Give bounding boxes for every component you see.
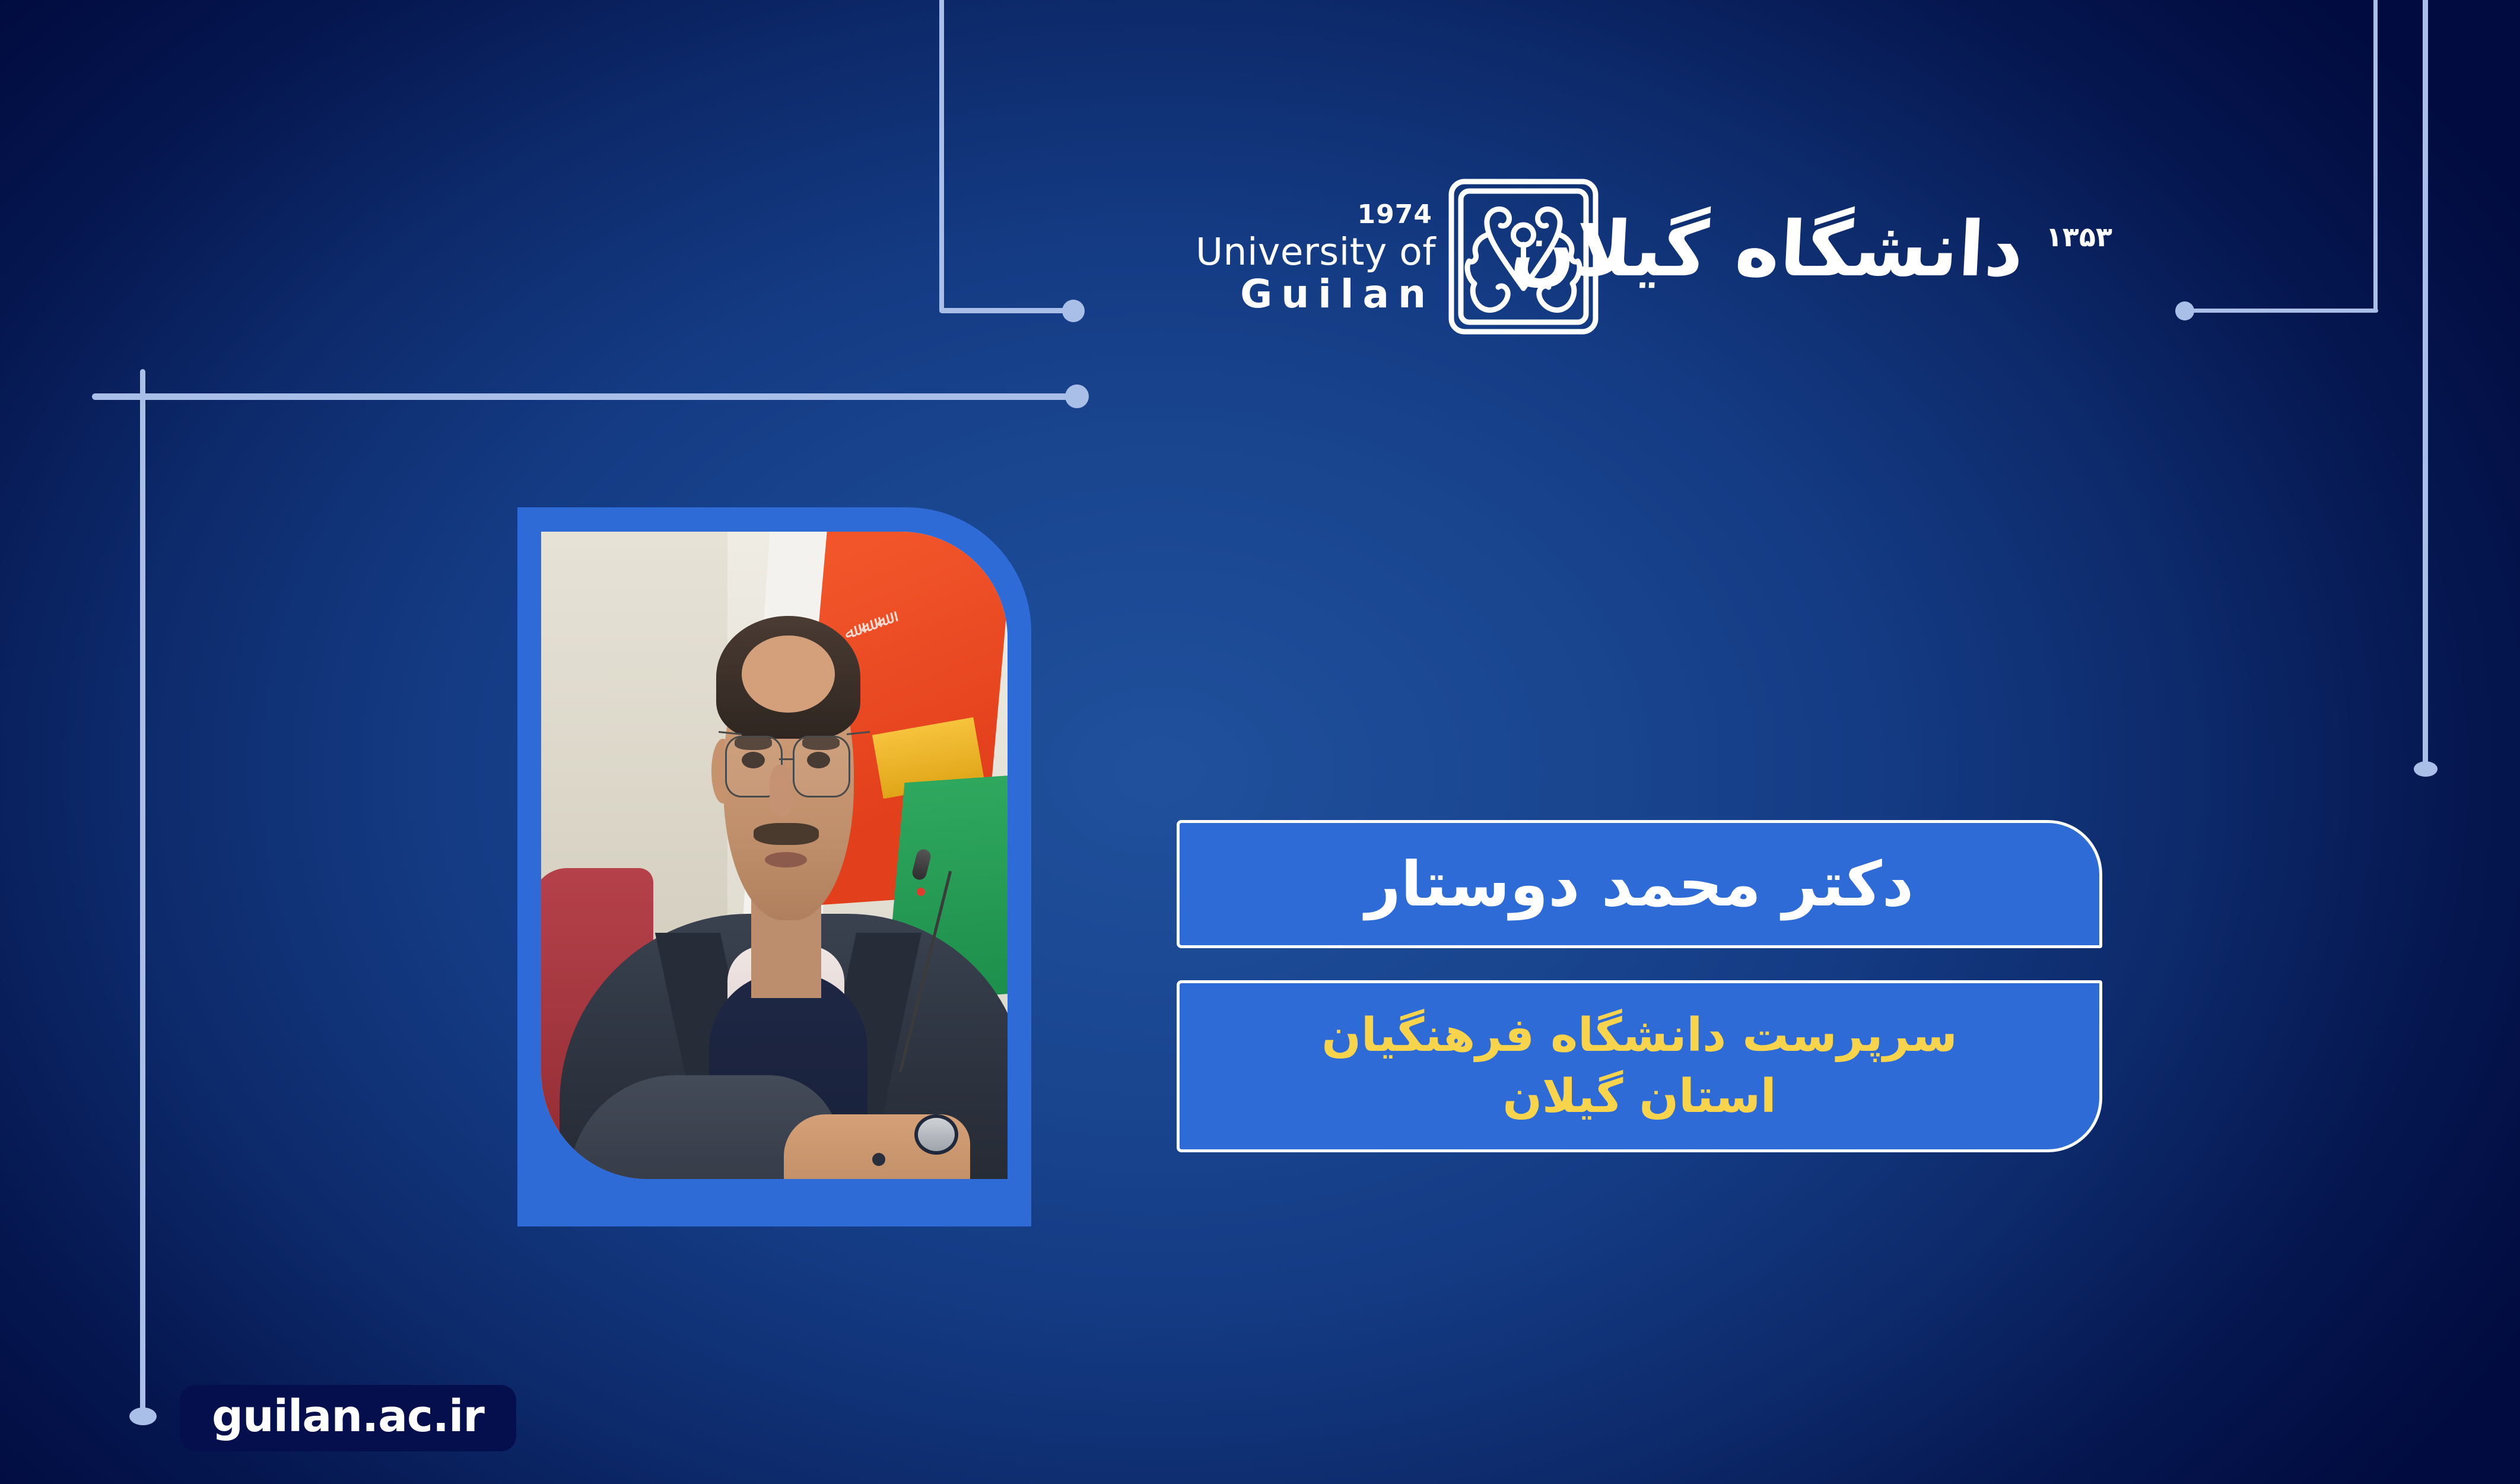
photo-flag-script: ﷲ ﷲ ﷲ (843, 609, 889, 644)
decorative-line-upper-left-vertical (939, 0, 944, 312)
portrait-photo: ﷲ ﷲ ﷲ (541, 532, 1008, 1179)
logo-university-of-label: University of (1145, 233, 1436, 272)
decorative-dot-upper-left (1062, 300, 1085, 322)
photo-mouth (765, 852, 807, 867)
decorative-line-mid-left-horizontal (92, 393, 1082, 400)
person-title-badge: سرپرست دانشگاه فرهنگیان استان گیلان (1177, 980, 2102, 1152)
university-logo-english: 1974 University of Guilan (1145, 202, 1436, 317)
person-title-line-2: استان گیلان (1321, 1066, 1957, 1127)
decorative-line-top-right-horizontal (2188, 309, 2378, 313)
photo-forehead (742, 635, 835, 713)
logo-guilan-label: Guilan (1145, 272, 1436, 317)
decorative-dot-left-bottom (129, 1407, 157, 1425)
decorative-line-top-right-vertical (2373, 0, 2378, 312)
announcement-card: 1974 University of Guilan ۱۳۵۳ دانشگاه گ… (0, 0, 2520, 1484)
decorative-line-left-vertical (140, 369, 145, 1419)
photo-eyeglass-bridge (779, 758, 793, 760)
decorative-dot-top-right (2175, 301, 2194, 320)
logo-university-name-persian: دانشگاه گیلان (1605, 195, 2026, 305)
website-url[interactable]: guilan.ac.ir (212, 1391, 484, 1442)
person-title-line-1: سرپرست دانشگاه فرهنگیان (1321, 1005, 1957, 1066)
decorative-line-upper-left-horizontal (939, 308, 1082, 313)
person-name: دکتر محمد دوستار (1365, 850, 1914, 918)
decorative-dot-mid-left (1065, 384, 1089, 408)
decorative-line-right-vertical (2423, 0, 2428, 768)
university-logo-persian: ۱۳۵۳ دانشگاه گیلان (1602, 184, 2112, 362)
university-logo: 1974 University of Guilan ۱۳۵۳ دانشگاه گ… (1145, 178, 2112, 380)
logo-year-persian: ۱۳۵۳ (2046, 221, 2112, 253)
decorative-dot-right (2414, 761, 2438, 777)
person-title: سرپرست دانشگاه فرهنگیان استان گیلان (1298, 1005, 1981, 1127)
website-url-pill[interactable]: guilan.ac.ir (180, 1385, 516, 1451)
person-name-badge: دکتر محمد دوستار (1177, 820, 2102, 948)
portrait-frame: ﷲ ﷲ ﷲ (517, 507, 1031, 1226)
photo-eyeglass-lens-right (793, 736, 850, 797)
photo-wristwatch (914, 1114, 958, 1155)
photo-microphone-led (917, 888, 925, 896)
photo-moustache (754, 823, 819, 845)
photo-nose (770, 765, 793, 816)
logo-year-gregorian: 1974 (1145, 202, 1436, 228)
